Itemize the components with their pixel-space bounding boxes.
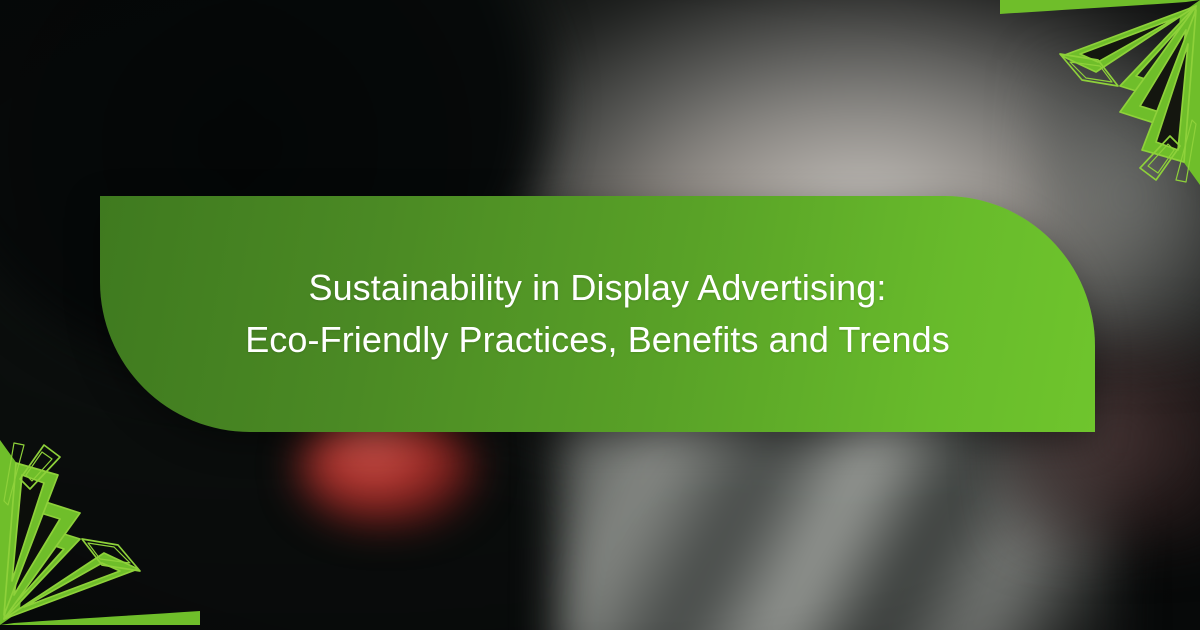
title-banner: Sustainability in Display Advertising: E… [100,196,1095,432]
page-title: Sustainability in Display Advertising: E… [205,262,990,366]
title-line-2: Eco-Friendly Practices, Benefits and Tre… [245,314,950,366]
social-card: Sustainability in Display Advertising: E… [0,0,1200,630]
title-line-1: Sustainability in Display Advertising: [245,262,950,314]
